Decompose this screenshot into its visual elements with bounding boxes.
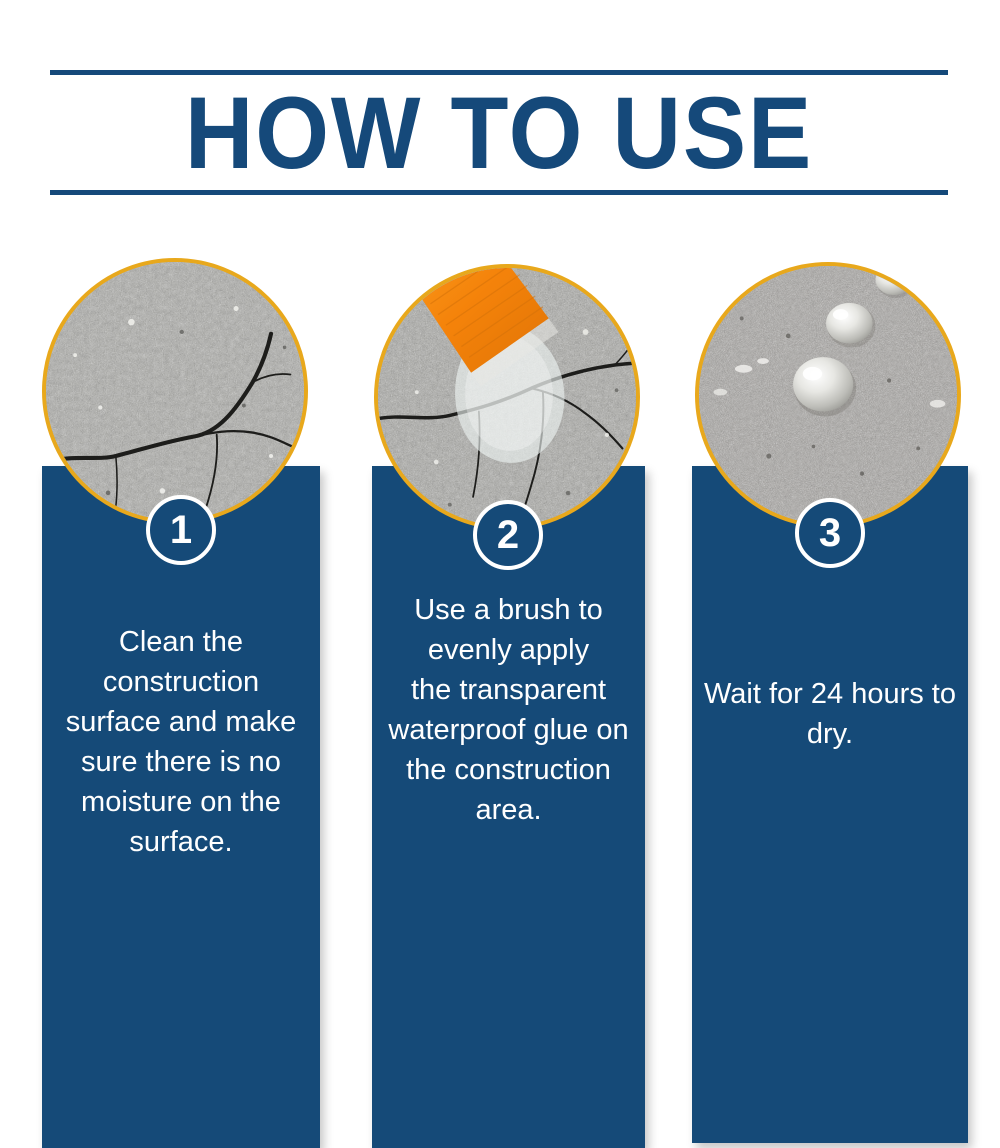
brush-applying-transparent-glue-photo	[374, 264, 640, 530]
step-number-badge-3: 3	[795, 498, 865, 568]
step-caption-1: Clean the construction surface and make …	[42, 622, 320, 862]
cracked-concrete-surface-photo	[42, 258, 308, 524]
step-number-badge-2: 2	[473, 500, 543, 570]
step-caption-2: Use a brush to evenly apply the transpar…	[372, 590, 645, 830]
step-caption-3: Wait for 24 hours to dry.	[692, 674, 968, 754]
water-droplets-beading-on-surface-photo	[695, 262, 961, 528]
step-number-badge-1: 1	[146, 495, 216, 565]
steps-container: 1 Clean the construction surface and mak…	[0, 0, 1000, 1000]
